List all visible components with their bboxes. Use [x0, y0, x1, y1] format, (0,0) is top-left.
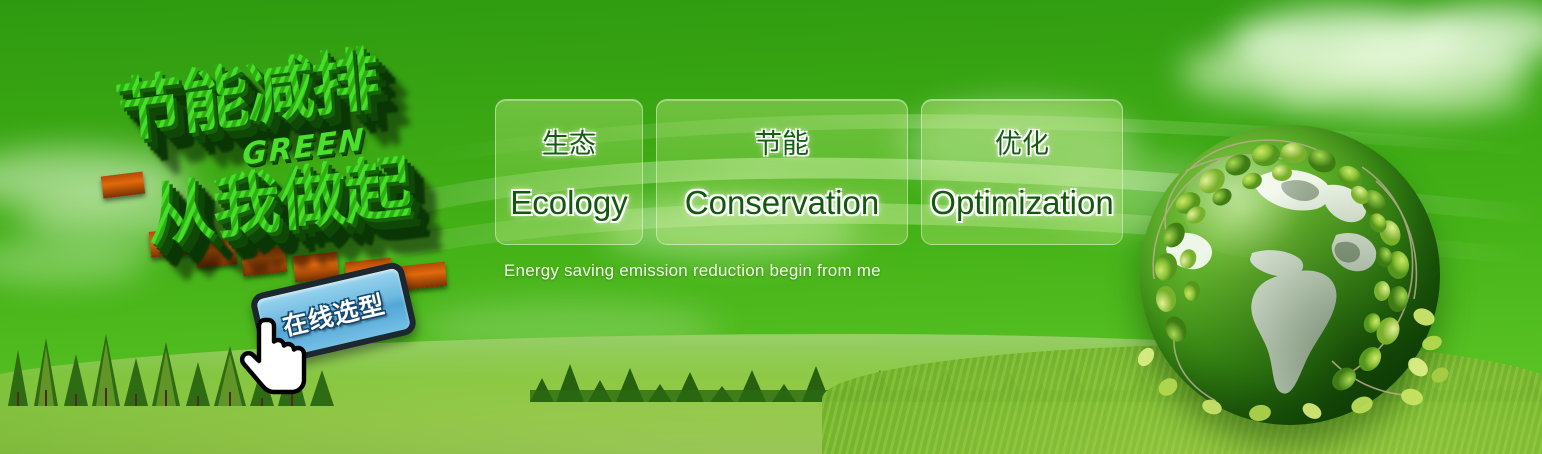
tagline: Energy saving emission reduction begin f… [504, 261, 881, 281]
globe-shadow [1140, 125, 1440, 425]
feature-card-cn-label: 节能 [755, 122, 809, 161]
feature-card-cn-label: 优化 [995, 122, 1049, 161]
feature-card-en-label: Optimization [930, 184, 1113, 222]
title-base-block [241, 246, 287, 276]
feature-card-list: 生态 Ecology 节能 Conservation 优化 Optimizati… [495, 99, 1123, 245]
title-base-block [101, 172, 145, 199]
feature-card-ecology[interactable]: 生态 Ecology [495, 99, 643, 245]
feature-card-cn-label: 生态 [542, 122, 596, 161]
title-artwork: 节能减排 GREEN 从我做起 [92, 34, 492, 274]
globe-sphere [1140, 125, 1440, 425]
eco-banner: 节能减排 GREEN 从我做起 在线选型 生态 Ecology 节能 Conse… [0, 0, 1542, 454]
pointing-hand-cursor-icon [238, 316, 312, 398]
feature-card-conservation[interactable]: 节能 Conservation [656, 99, 908, 245]
title-line-2: 从我做起 [144, 131, 412, 260]
feature-card-optimization[interactable]: 优化 Optimization [921, 99, 1123, 245]
ivy-globe [1140, 125, 1440, 425]
feature-card-en-label: Ecology [510, 184, 627, 222]
feature-card-en-label: Conservation [685, 184, 879, 222]
